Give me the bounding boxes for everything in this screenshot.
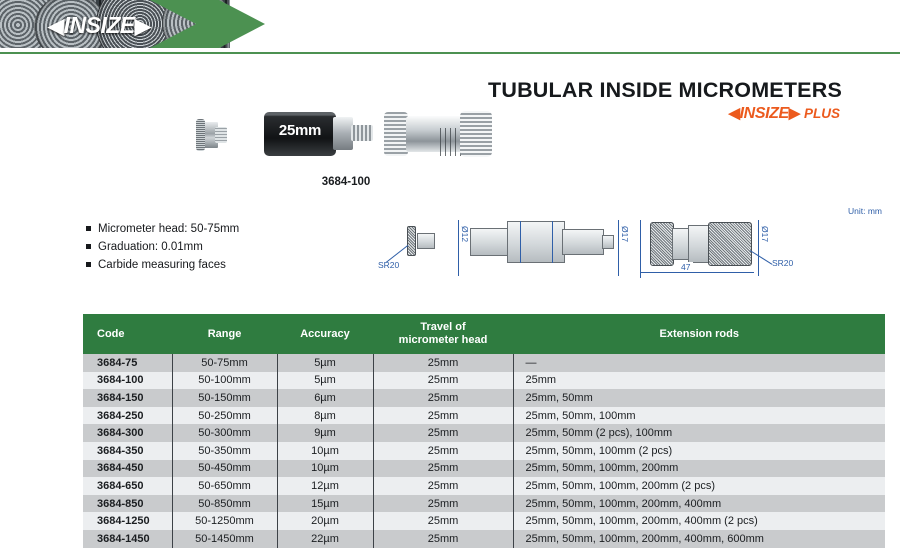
cell-travel: 25mm bbox=[373, 354, 513, 372]
product-code-caption: 3684-100 bbox=[196, 176, 496, 188]
cell-travel: 25mm bbox=[373, 442, 513, 460]
cell-travel: 25mm bbox=[373, 512, 513, 530]
cell-code: 3684-150 bbox=[83, 389, 172, 407]
cell-accuracy: 22µm bbox=[277, 530, 373, 548]
cell-accuracy: 6µm bbox=[277, 389, 373, 407]
logo-wordmark: INSIZE bbox=[64, 12, 135, 38]
cell-extension-rods: 25mm, 50mm, 100mm bbox=[513, 407, 885, 425]
cell-range: 50-850mm bbox=[172, 495, 277, 513]
plus-suffix: PLUS bbox=[804, 106, 840, 121]
header-divider-rule bbox=[0, 52, 900, 54]
cell-extension-rods: 25mm, 50mm (2 pcs), 100mm bbox=[513, 424, 885, 442]
drawing-head-knurl-right bbox=[708, 222, 752, 266]
drawing-head-body bbox=[688, 225, 710, 263]
dim-label-dia12: Ø12 bbox=[460, 226, 470, 242]
plus-arrow-left-icon: ◀ bbox=[728, 105, 739, 122]
logo-arrow-left-icon: ◀ bbox=[48, 15, 64, 38]
cell-code: 3684-1250 bbox=[83, 512, 172, 530]
unit-note: Unit: mm bbox=[848, 206, 882, 216]
cell-range: 50-100mm bbox=[172, 372, 277, 390]
cell-code: 3684-850 bbox=[83, 495, 172, 513]
rod-thread-part bbox=[351, 125, 373, 141]
list-item: Micrometer head: 50-75mm bbox=[86, 222, 239, 236]
column-header-travel: Travel of micrometer head bbox=[373, 314, 513, 354]
drawing-extension-line bbox=[458, 220, 459, 276]
cell-extension-rods: — bbox=[513, 354, 885, 372]
cell-range: 50-150mm bbox=[172, 389, 277, 407]
cell-travel: 25mm bbox=[373, 372, 513, 390]
cell-extension-rods: 25mm, 50mm, 100mm, 200mm, 400mm bbox=[513, 495, 885, 513]
spec-table-wrapper: Code Range Accuracy Travel of micrometer… bbox=[83, 314, 885, 548]
cell-accuracy: 12µm bbox=[277, 477, 373, 495]
drawing-edge-line bbox=[520, 221, 521, 263]
cell-range: 50-450mm bbox=[172, 460, 277, 478]
cell-extension-rods: 25mm, 50mm, 100mm, 200mm bbox=[513, 460, 885, 478]
dim-label-dia17-mid: Ø17 bbox=[620, 226, 630, 242]
square-bullet-icon bbox=[86, 262, 91, 267]
extension-rod-label: 25mm bbox=[270, 122, 330, 139]
cell-range: 50-1250mm bbox=[172, 512, 277, 530]
page-title: TUBULAR INSIDE MICROMETERS bbox=[488, 78, 842, 103]
cell-extension-rods: 25mm, 50mm, 100mm, 200mm, 400mm, 600mm bbox=[513, 530, 885, 548]
cell-extension-rods: 25mm, 50mm, 100mm (2 pcs) bbox=[513, 442, 885, 460]
drawing-anvil-knurl bbox=[407, 226, 416, 256]
square-bullet-icon bbox=[86, 226, 91, 231]
catalog-page: ◀INSIZE▶ TUBULAR INSIDE MICROMETERS ◀INS… bbox=[0, 0, 900, 552]
column-header-extension-rods: Extension rods bbox=[513, 314, 885, 354]
micrometer-knurl-left bbox=[384, 112, 408, 156]
cell-extension-rods: 25mm, 50mm, 100mm, 200mm, 400mm (2 pcs) bbox=[513, 512, 885, 530]
table-row: 3684-30050-300mm9µm25mm25mm, 50mm (2 pcs… bbox=[83, 424, 885, 442]
drawing-tube-right bbox=[562, 229, 604, 255]
dim-label-47: 47 bbox=[678, 262, 693, 272]
cell-travel: 25mm bbox=[373, 424, 513, 442]
cell-code: 3684-350 bbox=[83, 442, 172, 460]
cell-range: 50-300mm bbox=[172, 424, 277, 442]
cell-code: 3684-450 bbox=[83, 460, 172, 478]
drawing-tip bbox=[602, 235, 614, 249]
cell-accuracy: 9µm bbox=[277, 424, 373, 442]
table-row: 3684-35050-350mm10µm25mm25mm, 50mm, 100m… bbox=[83, 442, 885, 460]
table-header-row: Code Range Accuracy Travel of micrometer… bbox=[83, 314, 885, 354]
cell-accuracy: 5µm bbox=[277, 354, 373, 372]
page-banner: ◀INSIZE▶ bbox=[0, 0, 900, 53]
table-row: 3684-25050-250mm8µm25mm25mm, 50mm, 100mm bbox=[83, 407, 885, 425]
table-row: 3684-65050-650mm12µm25mm25mm, 50mm, 100m… bbox=[83, 477, 885, 495]
drawing-tube-mid bbox=[507, 221, 565, 263]
travel-line-1: Travel of bbox=[420, 321, 465, 333]
table-row: 3684-45050-450mm10µm25mm25mm, 50mm, 100m… bbox=[83, 460, 885, 478]
cell-accuracy: 10µm bbox=[277, 460, 373, 478]
micrometer-sleeve bbox=[406, 116, 462, 152]
cell-travel: 25mm bbox=[373, 495, 513, 513]
cell-code: 3684-1450 bbox=[83, 530, 172, 548]
table-row: 3684-85050-850mm15µm25mm25mm, 50mm, 100m… bbox=[83, 495, 885, 513]
cell-code: 3684-250 bbox=[83, 407, 172, 425]
end-cap-part bbox=[202, 122, 218, 148]
cell-range: 50-250mm bbox=[172, 407, 277, 425]
travel-line-2: micrometer head bbox=[399, 334, 488, 346]
table-row: 3684-125050-1250mm20µm25mm25mm, 50mm, 10… bbox=[83, 512, 885, 530]
table-row: 3684-7550-75mm5µm25mm— bbox=[83, 354, 885, 372]
cell-extension-rods: 25mm bbox=[513, 372, 885, 390]
cell-accuracy: 15µm bbox=[277, 495, 373, 513]
micrometer-head-part bbox=[384, 108, 492, 160]
table-row: 3684-15050-150mm6µm25mm25mm, 50mm bbox=[83, 389, 885, 407]
insize-logo: ◀INSIZE▶ bbox=[48, 12, 150, 39]
column-header-accuracy: Accuracy bbox=[277, 314, 373, 354]
column-header-range: Range bbox=[172, 314, 277, 354]
drawing-edge-line bbox=[552, 221, 553, 263]
square-bullet-icon bbox=[86, 244, 91, 249]
plus-wordmark: INSIZE bbox=[740, 105, 789, 122]
feature-text: Graduation: 0.01mm bbox=[98, 241, 203, 253]
cell-travel: 25mm bbox=[373, 477, 513, 495]
drawing-anvil-shank bbox=[417, 233, 435, 249]
drawing-dimension-line-47 bbox=[640, 272, 754, 273]
drawing-tube-left bbox=[470, 228, 510, 256]
cell-accuracy: 8µm bbox=[277, 407, 373, 425]
plus-arrow-right-icon: ▶ bbox=[789, 105, 800, 122]
drawing-head-knurl-left bbox=[650, 222, 674, 266]
feature-text: Micrometer head: 50-75mm bbox=[98, 223, 239, 235]
cell-range: 50-350mm bbox=[172, 442, 277, 460]
cell-travel: 25mm bbox=[373, 407, 513, 425]
dim-label-sr20-right: SR20 bbox=[772, 258, 793, 268]
drawing-extension-line bbox=[618, 220, 619, 276]
cell-travel: 25mm bbox=[373, 460, 513, 478]
cell-range: 50-650mm bbox=[172, 477, 277, 495]
feature-list: Micrometer head: 50-75mm Graduation: 0.0… bbox=[86, 222, 239, 276]
cell-extension-rods: 25mm, 50mm bbox=[513, 389, 885, 407]
cell-travel: 25mm bbox=[373, 530, 513, 548]
table-body: 3684-7550-75mm5µm25mm—3684-10050-100mm5µ… bbox=[83, 354, 885, 548]
column-header-code: Code bbox=[83, 314, 172, 354]
technical-drawing: SR20 Ø12 Ø17 47 Ø17 SR20 bbox=[372, 200, 892, 292]
cell-range: 50-1450mm bbox=[172, 530, 277, 548]
dim-label-sr20-left: SR20 bbox=[378, 260, 399, 270]
spec-table: Code Range Accuracy Travel of micrometer… bbox=[83, 314, 885, 548]
cell-code: 3684-75 bbox=[83, 354, 172, 372]
list-item: Graduation: 0.01mm bbox=[86, 240, 239, 254]
list-item: Carbide measuring faces bbox=[86, 258, 239, 272]
cell-accuracy: 5µm bbox=[277, 372, 373, 390]
cell-travel: 25mm bbox=[373, 389, 513, 407]
drawing-extension-line bbox=[758, 220, 759, 276]
drawing-leader-line bbox=[750, 250, 773, 265]
feature-text: Carbide measuring faces bbox=[98, 259, 226, 271]
micrometer-thimble bbox=[460, 111, 492, 157]
table-row: 3684-10050-100mm5µm25mm25mm bbox=[83, 372, 885, 390]
product-photo: 25mm bbox=[196, 100, 496, 170]
cell-range: 50-75mm bbox=[172, 354, 277, 372]
insize-plus-logo: ◀INSIZE▶ PLUS bbox=[728, 104, 840, 123]
logo-arrow-right-icon: ▶ bbox=[135, 15, 151, 38]
dim-label-dia17-right: Ø17 bbox=[760, 226, 770, 242]
cell-code: 3684-100 bbox=[83, 372, 172, 390]
table-row: 3684-145050-1450mm22µm25mm25mm, 50mm, 10… bbox=[83, 530, 885, 548]
rod-collar-part bbox=[333, 117, 353, 150]
cell-code: 3684-300 bbox=[83, 424, 172, 442]
cell-code: 3684-650 bbox=[83, 477, 172, 495]
drawing-extension-line bbox=[640, 220, 641, 278]
cell-accuracy: 20µm bbox=[277, 512, 373, 530]
cell-accuracy: 10µm bbox=[277, 442, 373, 460]
cell-extension-rods: 25mm, 50mm, 100mm, 200mm (2 pcs) bbox=[513, 477, 885, 495]
